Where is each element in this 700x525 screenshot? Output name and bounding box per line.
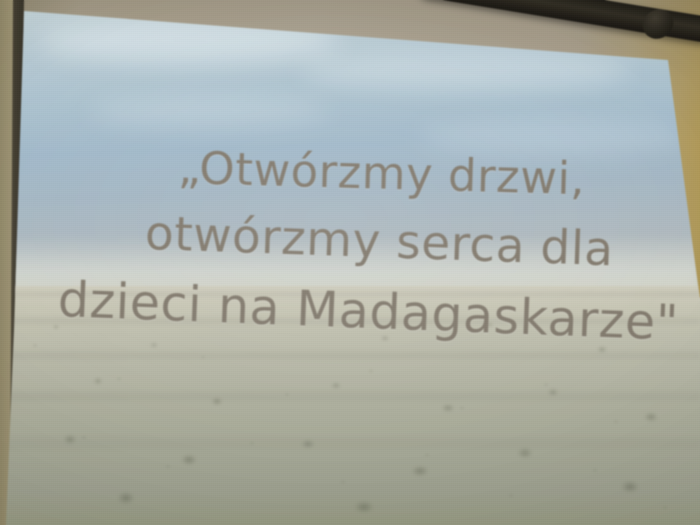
slide-quote-line-1: „Otwórzmy drzwi, [177, 141, 586, 205]
slide-quote-text: „Otwórzmy drzwi, otwórzmy serca dla dzie… [0, 0, 700, 525]
slide-quote-line-3: dzieci na Madagaskarze" [57, 271, 680, 352]
projected-slide-photo: „Otwórzmy drzwi, otwórzmy serca dla dzie… [0, 0, 700, 525]
slide-quote-line-2: otwórzmy serca dla [144, 206, 615, 277]
presentation-slide: „Otwórzmy drzwi, otwórzmy serca dla dzie… [0, 0, 700, 525]
